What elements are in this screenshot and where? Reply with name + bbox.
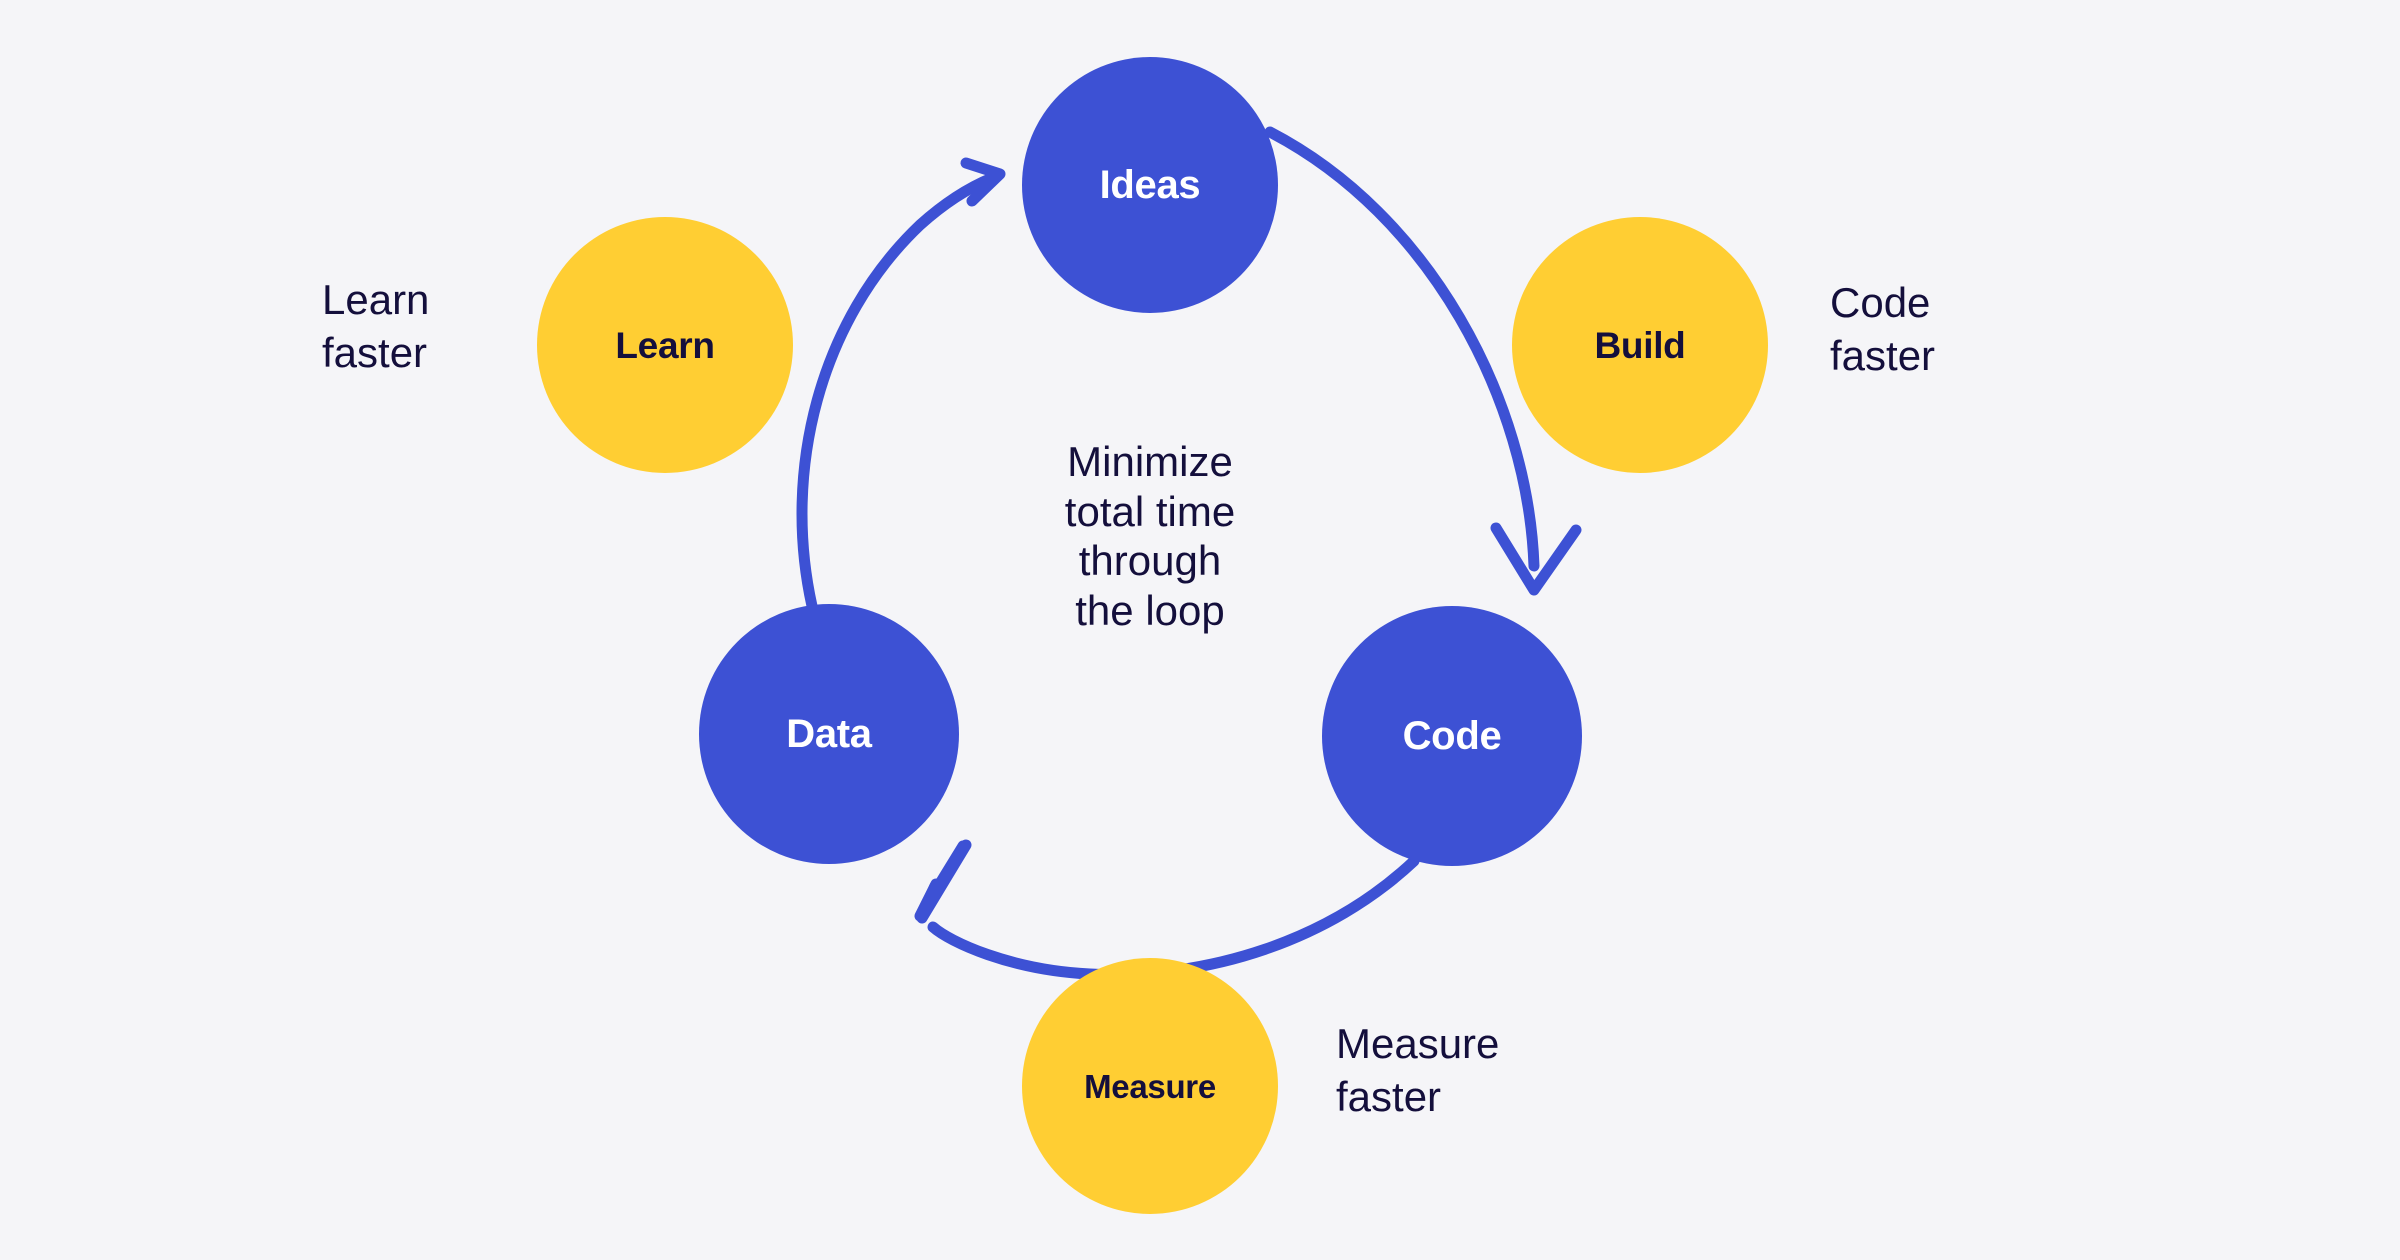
side-caption-learn: Learn faster <box>322 274 429 379</box>
outcome-node-build-label: Build <box>1595 327 1686 364</box>
center-caption-line-2: total time <box>930 487 1370 537</box>
outcome-node-learn[interactable]: Learn <box>537 217 793 473</box>
side-caption-measure-line-1: Measure <box>1336 1018 1499 1071</box>
side-caption-learn-line-2: faster <box>322 327 429 380</box>
side-caption-build: Code faster <box>1830 277 1935 382</box>
center-caption: Minimize total time through the loop <box>930 437 1370 635</box>
loop-node-code-label: Code <box>1403 716 1502 756</box>
arrow-code-to-data-head-2 <box>920 846 963 916</box>
side-caption-measure-line-2: faster <box>1336 1071 1499 1124</box>
arrow-code-to-data-path <box>933 861 1414 975</box>
diagram-canvas: Ideas Code Data Learn Build Measure Mini… <box>0 0 2400 1260</box>
center-caption-line-4: the loop <box>930 586 1370 636</box>
side-caption-learn-line-1: Learn <box>322 274 429 327</box>
side-caption-measure: Measure faster <box>1336 1018 1499 1123</box>
center-caption-line-1: Minimize <box>930 437 1370 487</box>
side-caption-build-line-2: faster <box>1830 330 1935 383</box>
side-caption-build-line-1: Code <box>1830 277 1935 330</box>
loop-node-data[interactable]: Data <box>699 604 959 864</box>
loop-node-data-label: Data <box>786 714 872 754</box>
loop-node-ideas[interactable]: Ideas <box>1022 57 1278 313</box>
outcome-node-build[interactable]: Build <box>1512 217 1768 473</box>
outcome-node-measure-label: Measure <box>1084 1070 1216 1103</box>
outcome-node-measure[interactable]: Measure <box>1022 958 1278 1214</box>
loop-node-ideas-label: Ideas <box>1100 165 1201 205</box>
center-caption-line-3: through <box>930 536 1370 586</box>
outcome-node-learn-label: Learn <box>615 327 714 364</box>
loop-node-code[interactable]: Code <box>1322 606 1582 866</box>
